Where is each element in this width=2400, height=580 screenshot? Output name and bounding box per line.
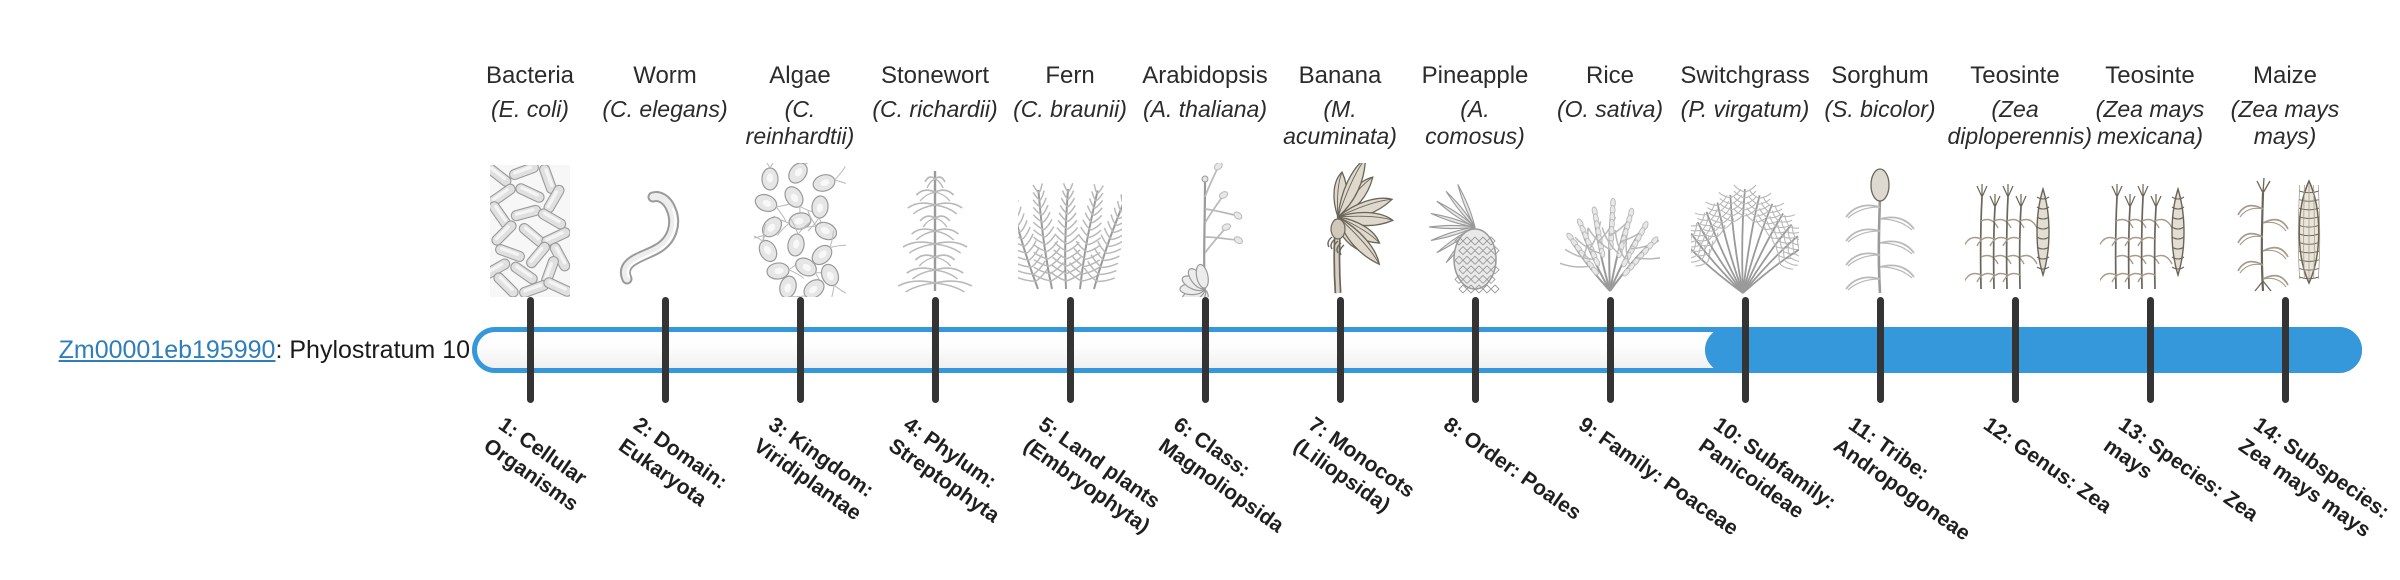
species-scientific-name: (Zea mays mexicana)	[2083, 96, 2218, 150]
phylostratum-tick[interactable]	[1742, 297, 1749, 403]
rice-plant-icon	[1543, 172, 1678, 297]
stonewort-alga-icon	[868, 172, 1003, 297]
species-common-name: Teosinte	[1948, 62, 2083, 90]
species-common-name: Teosinte	[2083, 62, 2218, 90]
species-scientific-name: (M. acuminata)	[1273, 96, 1408, 150]
phylostratum-tick[interactable]	[662, 297, 669, 403]
species-scientific-name: (E. coli)	[463, 96, 598, 123]
gene-label-separator: :	[275, 336, 289, 364]
species-scientific-name: (A. thaliana)	[1138, 96, 1273, 123]
teosinte-plant-and-ear-icon	[2083, 172, 2218, 297]
fern-frond-icon	[1003, 172, 1138, 297]
phylostratum-tick[interactable]	[2282, 297, 2289, 403]
phylostratum-tick[interactable]	[527, 297, 534, 403]
phylostratum-tick[interactable]	[1877, 297, 1884, 403]
species-common-name: Maize	[2218, 62, 2353, 90]
teosinte-plant-and-ear-icon	[1948, 172, 2083, 297]
species-common-name: Pineapple	[1408, 62, 1543, 90]
species-scientific-name: (O. sativa)	[1543, 96, 1678, 123]
phylostratum-tick[interactable]	[1472, 297, 1479, 403]
rank-text: Order: Poales	[1459, 427, 1585, 525]
nematode-worm-icon	[598, 172, 733, 297]
species-common-name: Switchgrass	[1678, 62, 1813, 90]
species-common-name: Sorghum	[1813, 62, 1948, 90]
bacteria-rods-icon	[463, 172, 598, 297]
pineapple-icon	[1408, 172, 1543, 297]
species-scientific-name: (C. elegans)	[598, 96, 733, 123]
species-common-name: Stonewort	[868, 62, 1003, 90]
phylostratum-tick[interactable]	[797, 297, 804, 403]
gene-row-label: Zm00001eb195990: Phylostratum 10	[0, 335, 470, 365]
phylostratum-tick[interactable]	[1067, 297, 1074, 403]
gene-id-link[interactable]: Zm00001eb195990	[59, 336, 276, 364]
phylostratum-tick[interactable]	[1607, 297, 1614, 403]
phylostratum-tick[interactable]	[2147, 297, 2154, 403]
rank-text: Cellular Organisms	[479, 427, 590, 516]
rank-number: 12:	[1979, 413, 2017, 449]
species-scientific-name: (A. comosus)	[1408, 96, 1543, 150]
species-scientific-name: (C. reinhardtii)	[733, 96, 868, 150]
species-common-name: Rice	[1543, 62, 1678, 90]
phylostratum-tick[interactable]	[1337, 297, 1344, 403]
species-common-name: Worm	[598, 62, 733, 90]
phylostratum-figure: Zm00001eb195990: Phylostratum 10 Bacteri…	[0, 0, 2400, 580]
species-scientific-name: (Zea mays mays)	[2218, 96, 2353, 150]
sorghum-plant-icon	[1813, 172, 1948, 297]
green-algae-cells-icon	[733, 172, 868, 297]
maize-plant-and-cob-icon	[2218, 172, 2353, 297]
species-common-name: Banana	[1273, 62, 1408, 90]
phylostratum-tick[interactable]	[1202, 297, 1209, 403]
species-scientific-name: (C. richardii)	[868, 96, 1003, 123]
species-common-name: Fern	[1003, 62, 1138, 90]
species-common-name: Arabidopsis	[1138, 62, 1273, 90]
switchgrass-icon	[1678, 172, 1813, 297]
species-scientific-name: (Zea diploperennis)	[1948, 96, 2083, 150]
phylostratum-value-label: Phylostratum 10	[289, 336, 470, 364]
banana-tree-icon	[1273, 172, 1408, 297]
species-common-name: Algae	[733, 62, 868, 90]
arabidopsis-plant-icon	[1138, 172, 1273, 297]
phylostratum-fill	[1705, 327, 2362, 373]
species-common-name: Bacteria	[463, 62, 598, 90]
species-scientific-name: (C. braunii)	[1003, 96, 1138, 123]
rank-text: Genus: Zea	[2009, 434, 2116, 518]
species-scientific-name: (P. virgatum)	[1678, 96, 1813, 123]
phylostratum-tick[interactable]	[932, 297, 939, 403]
phylostratum-tick[interactable]	[2012, 297, 2019, 403]
species-scientific-name: (S. bicolor)	[1813, 96, 1948, 123]
